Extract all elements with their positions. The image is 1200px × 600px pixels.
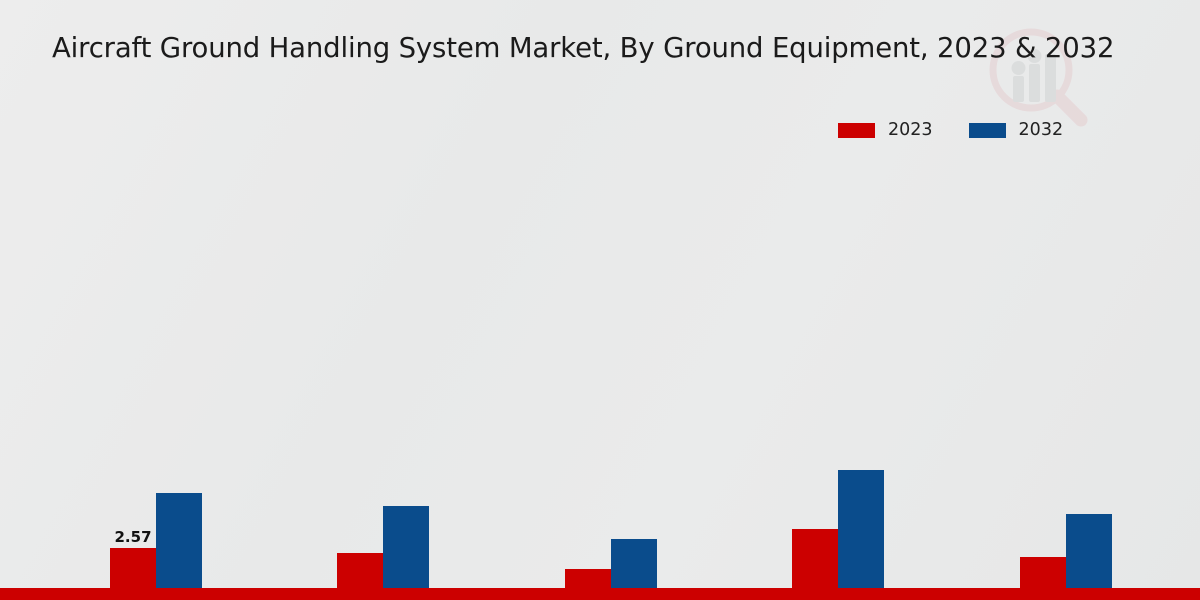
legend-item-2032[interactable]: 2032: [969, 120, 1064, 140]
bar-value-label: 2.57: [114, 528, 151, 546]
legend-item-2023[interactable]: 2023: [838, 120, 933, 140]
bar-group: [792, 320, 884, 600]
legend-swatch-2023: [838, 123, 875, 138]
bar-2032-tow-tractors[interactable]: [156, 493, 202, 600]
chart-legend: 2023 2032: [838, 120, 1063, 140]
footer-accent-bar: [0, 588, 1200, 600]
legend-label-2032: 2032: [1019, 120, 1064, 140]
legend-label-2023: 2023: [888, 120, 933, 140]
chart-title: Aircraft Ground Handling System Market, …: [52, 32, 1200, 64]
plot-area: 2.57 TowTractorsAircraftLoadersAirStartU…: [44, 160, 1164, 500]
legend-swatch-2032: [969, 123, 1006, 138]
bar-group: [1020, 320, 1112, 600]
bar-group: [565, 320, 657, 600]
bar-group: 2.57: [110, 320, 202, 600]
bar-2032-ground-power-units[interactable]: [838, 470, 884, 600]
chart-page: Aircraft Ground Handling System Market, …: [0, 0, 1200, 600]
bar-group: [337, 320, 429, 600]
bar-2032-aircraft-loaders[interactable]: [383, 506, 429, 600]
